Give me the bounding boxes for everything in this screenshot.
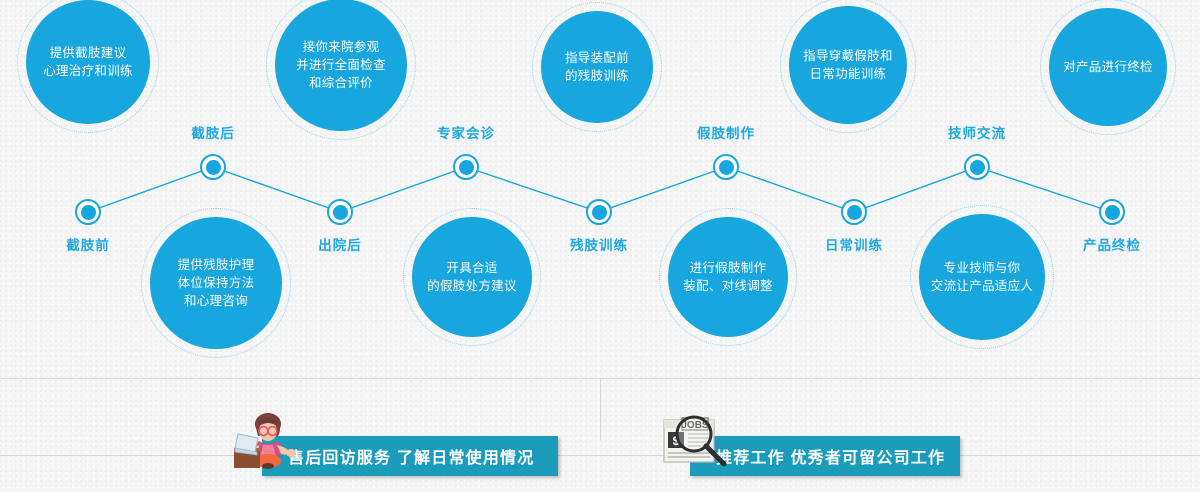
banner-job-referral[interactable]: 推荐工作 优秀者可留公司工作 bbox=[690, 436, 960, 476]
divider-line-center-vertical bbox=[600, 378, 601, 440]
timeline-node-expert-consultation[interactable] bbox=[453, 154, 479, 180]
bubble-label: 开具合适 的假肢处方建议 bbox=[419, 259, 525, 295]
timeline-node-label-post-amputation: 截肢后 bbox=[153, 122, 273, 142]
timeline-node-final-inspection[interactable] bbox=[1099, 199, 1125, 225]
divider-line-bottom bbox=[0, 455, 1200, 456]
bubble-post-amputation[interactable]: 提供残肢护理 体位保持方法 和心理咨询 bbox=[150, 217, 282, 349]
timeline-node-daily-training[interactable] bbox=[841, 199, 867, 225]
bubble-technician-exchange[interactable]: 专业技师与你 交流让产品适应人 bbox=[919, 214, 1045, 340]
bubble-expert-consultation[interactable]: 开具合适 的假肢处方建议 bbox=[412, 217, 532, 337]
timeline-node-label-expert-consultation: 专家会诊 bbox=[406, 122, 526, 142]
timeline-node-post-discharge[interactable] bbox=[327, 199, 353, 225]
process-timeline-infographic: 提供截肢建议 心理治疗和训练提供残肢护理 体位保持方法 和心理咨询接你来院参观 … bbox=[0, 0, 1200, 492]
bubble-label: 提供截肢建议 心理治疗和训练 bbox=[35, 44, 141, 80]
bubble-post-discharge[interactable]: 接你来院参观 并进行全面检查 和综合评价 bbox=[275, 0, 407, 131]
banner-label: 推荐工作 优秀者可留公司工作 bbox=[716, 444, 945, 468]
bubble-label: 接你来院参观 并进行全面检查 和综合评价 bbox=[288, 38, 394, 92]
banner-after-sales[interactable]: 售后回访服务 了解日常使用情况 bbox=[262, 436, 558, 476]
bubble-stump-training[interactable]: 指导装配前 的残肢训练 bbox=[541, 11, 653, 123]
bubble-pre-amputation[interactable]: 提供截肢建议 心理治疗和训练 bbox=[26, 0, 150, 124]
bubble-label: 专业技师与你 交流让产品适应人 bbox=[923, 259, 1041, 295]
timeline-node-label-post-discharge: 出院后 bbox=[280, 234, 400, 254]
woman-at-desk-with-laptop-icon bbox=[232, 412, 296, 475]
bubble-final-inspection[interactable]: 对产品进行终检 bbox=[1049, 8, 1167, 126]
timeline-node-stump-training[interactable] bbox=[586, 199, 612, 225]
timeline-node-label-prosthesis-fabrication: 假肢制作 bbox=[666, 122, 786, 142]
bubble-label: 指导装配前 的残肢训练 bbox=[557, 49, 637, 85]
timeline-node-label-technician-exchange: 技师交流 bbox=[917, 122, 1037, 142]
bubble-prosthesis-fabrication[interactable]: 进行假肢制作 装配、对线调整 bbox=[668, 217, 788, 337]
bubble-label: 进行假肢制作 装配、对线调整 bbox=[675, 259, 781, 295]
bubble-label: 提供残肢护理 体位保持方法 和心理咨询 bbox=[170, 256, 263, 310]
timeline-node-label-stump-training: 残肢训练 bbox=[539, 234, 659, 254]
bubble-label: 对产品进行终检 bbox=[1055, 58, 1161, 76]
timeline-node-label-pre-amputation: 截肢前 bbox=[28, 234, 148, 254]
timeline-node-technician-exchange[interactable] bbox=[964, 154, 990, 180]
timeline-node-prosthesis-fabrication[interactable] bbox=[713, 154, 739, 180]
timeline-node-label-final-inspection: 产品终检 bbox=[1052, 234, 1172, 254]
bubble-daily-training[interactable]: 指导穿戴假肢和 日常功能训练 bbox=[789, 6, 907, 124]
banner-label: 售后回访服务 了解日常使用情况 bbox=[288, 444, 534, 468]
timeline-node-pre-amputation[interactable] bbox=[75, 199, 101, 225]
timeline-node-post-amputation[interactable] bbox=[200, 154, 226, 180]
timeline-node-label-daily-training: 日常训练 bbox=[794, 234, 914, 254]
bubble-label: 指导穿戴假肢和 日常功能训练 bbox=[795, 47, 901, 83]
magnifier-over-jobs-newspaper-icon: $ JOBS bbox=[660, 412, 730, 473]
